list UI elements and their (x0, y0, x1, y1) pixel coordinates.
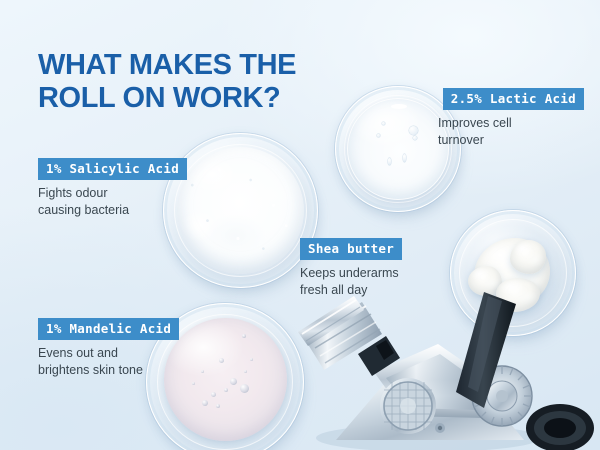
microscope-illustration (288, 288, 600, 450)
gel-bubble (219, 358, 224, 363)
butter-blob (510, 240, 546, 274)
gel-bubble (240, 384, 249, 393)
callout-shea-butter: Shea butter Keeps underarms fresh all da… (300, 238, 465, 298)
liquid-bubble (377, 134, 380, 137)
description-salicylic-acid: Fights odour causing bacteria (38, 185, 208, 218)
gel-bubble (216, 404, 220, 408)
gel-bubble (242, 334, 246, 338)
gel-bubble (244, 370, 247, 373)
description-shea-butter: Keeps underarms fresh all day (300, 265, 465, 298)
gel-bubble (230, 378, 237, 385)
page-title: WHAT MAKES THE ROLL ON WORK? (38, 49, 368, 114)
badge-salicylic-acid: 1% Salicylic Acid (38, 158, 187, 180)
description-mandelic-acid: Evens out and brightens skin tone (38, 345, 218, 378)
callout-salicylic-acid: 1% Salicylic Acid Fights odour causing b… (38, 158, 208, 218)
liquid-bubble (388, 158, 391, 165)
infographic-poster: WHAT MAKES THE ROLL ON WORK? 1% Salicyli… (0, 0, 600, 450)
liquid-bubble (403, 154, 406, 162)
gel-bubble (192, 382, 195, 385)
callout-lactic-acid: 2.5% Lactic Acid Improves cell turnover (412, 88, 584, 148)
badge-shea-butter: Shea butter (300, 238, 402, 260)
badge-mandelic-acid: 1% Mandelic Acid (38, 318, 179, 340)
liquid-highlight (391, 104, 407, 109)
gel-bubble (211, 392, 216, 397)
gel-bubble (250, 358, 253, 361)
gel-bubble (202, 400, 208, 406)
microscope (288, 288, 600, 450)
callout-mandelic-acid: 1% Mandelic Acid Evens out and brightens… (38, 318, 218, 378)
liquid-bubble (382, 122, 385, 125)
badge-lactic-acid: 2.5% Lactic Acid (443, 88, 584, 110)
gel-bubble (224, 388, 228, 392)
description-lactic-acid: Improves cell turnover (412, 115, 584, 148)
